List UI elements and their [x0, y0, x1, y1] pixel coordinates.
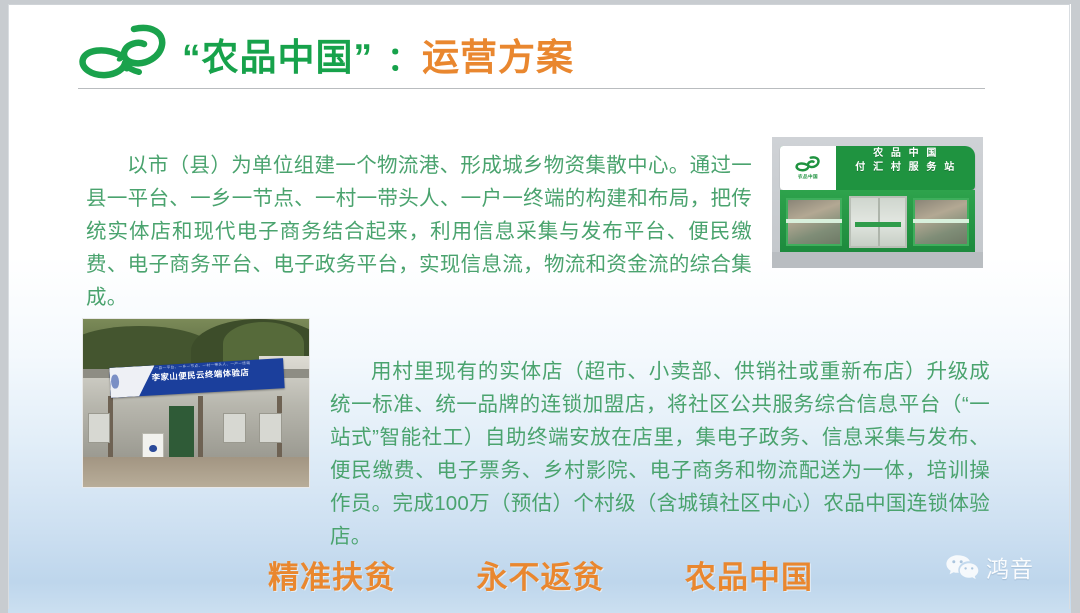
photo-ground [83, 457, 309, 487]
slogan-item-2: 永不返贫 [477, 552, 605, 597]
store-glass-doors [849, 196, 907, 248]
photo-sign-emblem [149, 445, 157, 452]
page-title-colon: ： [373, 32, 422, 80]
photo-shop-door [169, 406, 194, 456]
store-sign-text: 农 品 中 国 付 汇 村 服 务 站 [842, 147, 970, 175]
store-ground [772, 252, 983, 268]
header-divider [78, 88, 985, 89]
photo-window [259, 413, 282, 443]
paragraph-two: 用村里现有的实体店（超市、小卖部、供销社或重新布店）升级成统一标准、统一品牌的连… [330, 355, 990, 553]
store-sign-line-two: 付 汇 村 服 务 站 [842, 161, 970, 175]
photo-window [88, 413, 111, 443]
page-title: “农品中国” ： 运营方案 [182, 27, 574, 81]
slogan-row: 精准扶贫 永不返贫 农品中国 [268, 552, 813, 597]
window-edge-top [0, 0, 1080, 4]
wechat-icon [945, 553, 979, 581]
wechat-watermark: 鸿音 [945, 550, 1034, 584]
page-title-brand: “农品中国” [182, 27, 373, 81]
photo-window [223, 413, 246, 443]
slide-canvas: “农品中国” ： 运营方案 以市（县）为单位组建一个物流港、形成城乡物资集散中心… [0, 0, 1080, 613]
store-facade [780, 190, 975, 252]
leaf-sprout-logo-icon [76, 23, 172, 85]
store-sign-logo-panel: 农品中国 [780, 146, 836, 190]
photo-banner-white-wedge [109, 365, 156, 398]
page-title-subject: 运营方案 [422, 27, 574, 81]
wechat-account-name: 鸿音 [986, 550, 1034, 584]
photo-post [198, 396, 203, 463]
window-edge-right [1071, 0, 1080, 613]
village-store-photo: 一县一平台、一乡一节点、一村一带头人、一户一终端 李家山便民云终端体验店 [82, 318, 310, 488]
store-door-bar [855, 222, 901, 227]
slide-header: “农品中国” ： 运营方案 [76, 16, 988, 92]
slogan-item-1: 精准扶贫 [268, 552, 396, 597]
store-window-band-left [786, 219, 842, 223]
leaf-sprout-logo-icon-small [793, 156, 823, 173]
paragraph-one: 以市（县）为单位组建一个物流港、形成城乡物资集散中心。通过一县一平台、一乡一节点… [86, 149, 752, 314]
slogan-item-3: 农品中国 [685, 552, 813, 597]
store-logo-caption: 农品中国 [798, 174, 818, 180]
store-render-image: 农品中国 农 品 中 国 付 汇 村 服 务 站 [772, 137, 983, 268]
photo-banner-logo-icon [111, 374, 119, 389]
store-window-band-right [913, 219, 969, 223]
window-edge-left [0, 0, 8, 613]
store-sign-line-one: 农 品 中 国 [842, 147, 970, 161]
